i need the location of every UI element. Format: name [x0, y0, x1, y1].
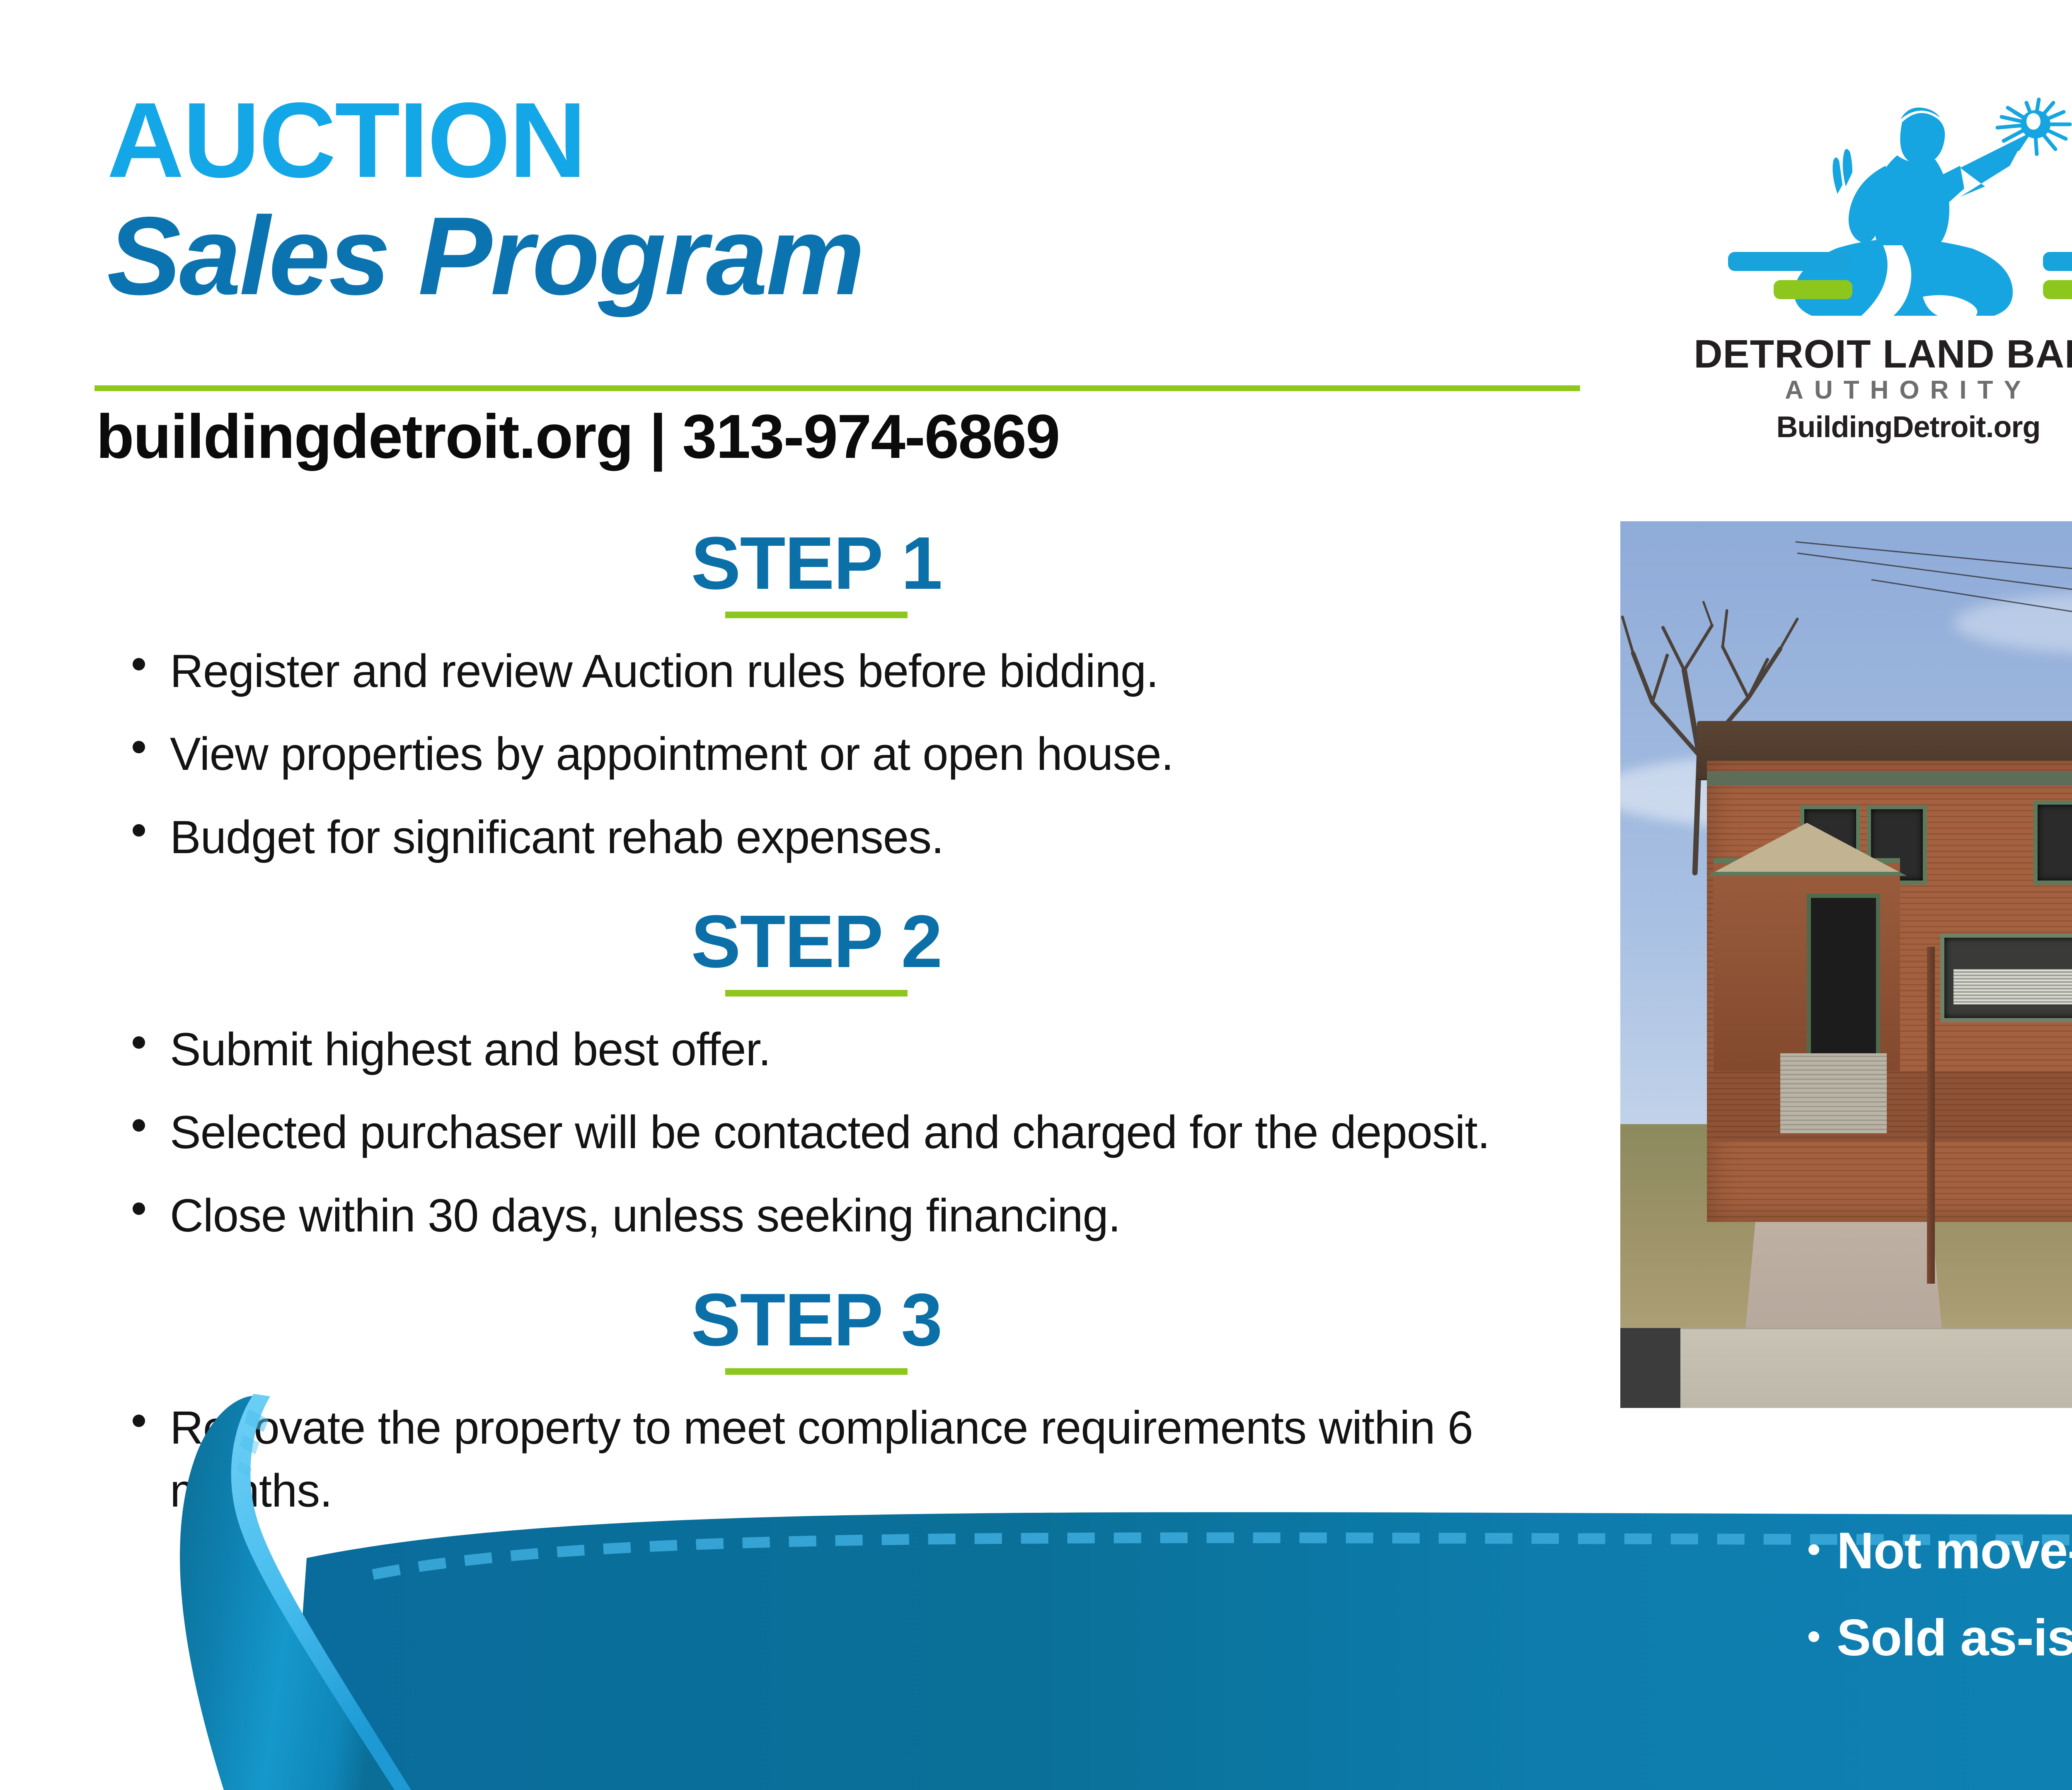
steps-column: STEP 1 Register and review Auction rules…: [108, 526, 1525, 1523]
bullet-icon: [133, 824, 145, 837]
spirit-of-detroit-icon: [1670, 83, 2072, 348]
page-title-sales-program: Sales Program: [107, 203, 863, 309]
list-item: View properties by appointment or at ope…: [108, 723, 1525, 786]
bullet-icon: [1808, 1544, 1819, 1555]
list-item: Budget for significant rehab expenses.: [108, 806, 1525, 869]
bullet-icon: [133, 1036, 145, 1049]
list-item: Submit highest and best offer.: [108, 1018, 1525, 1081]
step-list-1: Register and review Auction rules before…: [108, 640, 1525, 869]
logo-org-url: BuildingDetroit.org: [1670, 410, 2072, 444]
bottom-ribbon-banner: Not move-in ready Sold as-is, where-is: [0, 1380, 2072, 1790]
bullet-icon: [133, 1119, 145, 1132]
step-list-2: Submit highest and best offer. Selected …: [108, 1018, 1525, 1247]
step-heading-1: STEP 1: [108, 526, 1525, 601]
list-item: Not move-in ready: [1798, 1523, 2072, 1579]
photo-metal-post: [1927, 947, 1935, 1284]
banner-bullet-list: Not move-in ready Sold as-is, where-is: [1798, 1523, 2072, 1667]
bullet-icon: [133, 1202, 145, 1215]
title-divider-rule: [94, 385, 1580, 391]
photo-front-steps: [1780, 1053, 1887, 1133]
photo-front-door: [1807, 894, 1880, 1062]
step-underline-3: [725, 1368, 908, 1375]
list-item: Close within 30 days, unless seeking fin…: [108, 1184, 1525, 1247]
step-heading-2: STEP 2: [108, 905, 1525, 979]
step-heading-3: STEP 3: [108, 1283, 1525, 1357]
step-block-2: STEP 2 Submit highest and best offer. Se…: [108, 905, 1525, 1247]
photo-window-blinds: [1953, 969, 2072, 1005]
photo-foundation: [1707, 1071, 2072, 1142]
list-item: Sold as-is, where-is: [1798, 1610, 2072, 1666]
list-item-text: Register and review Auction rules before…: [170, 645, 1158, 697]
list-item-text: Budget for significant rehab expenses.: [170, 811, 944, 863]
step-underline-1: [725, 612, 908, 618]
logo-org-name: DETROIT LAND BANK: [1670, 331, 2072, 377]
bullet-icon: [1808, 1631, 1819, 1642]
contact-line: buildingdetroit.org | 313-974-6869: [96, 404, 1060, 469]
list-item-text: Submit highest and best offer.: [170, 1023, 771, 1075]
list-item-text: View properties by appointment or at ope…: [170, 728, 1174, 780]
poster-canvas: AUCTION Sales Program buildingdetroit.or…: [0, 0, 2072, 1790]
list-item-text: Not move-in ready: [1837, 1522, 2072, 1580]
list-item-text: Selected purchaser will be contacted and…: [170, 1106, 1490, 1158]
list-item-text: Sold as-is, where-is: [1837, 1609, 2072, 1667]
list-item: Selected purchaser will be contacted and…: [108, 1101, 1525, 1164]
list-item: Register and review Auction rules before…: [108, 640, 1525, 703]
bullet-icon: [133, 658, 145, 670]
page-title-auction: AUCTION: [107, 89, 585, 191]
step-underline-2: [725, 990, 908, 997]
bullet-icon: [133, 741, 145, 753]
property-photo: [1620, 521, 2072, 1408]
photo-upper-window: [2033, 801, 2072, 885]
logo-org-subtitle: AUTHORITY: [1670, 375, 2072, 405]
ribbon-shape: [0, 1380, 2072, 1790]
list-item-text: Close within 30 days, unless seeking fin…: [170, 1190, 1121, 1241]
step-block-1: STEP 1 Register and review Auction rules…: [108, 526, 1525, 869]
photo-eave: [1707, 771, 2072, 785]
logo: DETROIT LAND BANK AUTHORITY BuildingDetr…: [1670, 83, 2072, 443]
